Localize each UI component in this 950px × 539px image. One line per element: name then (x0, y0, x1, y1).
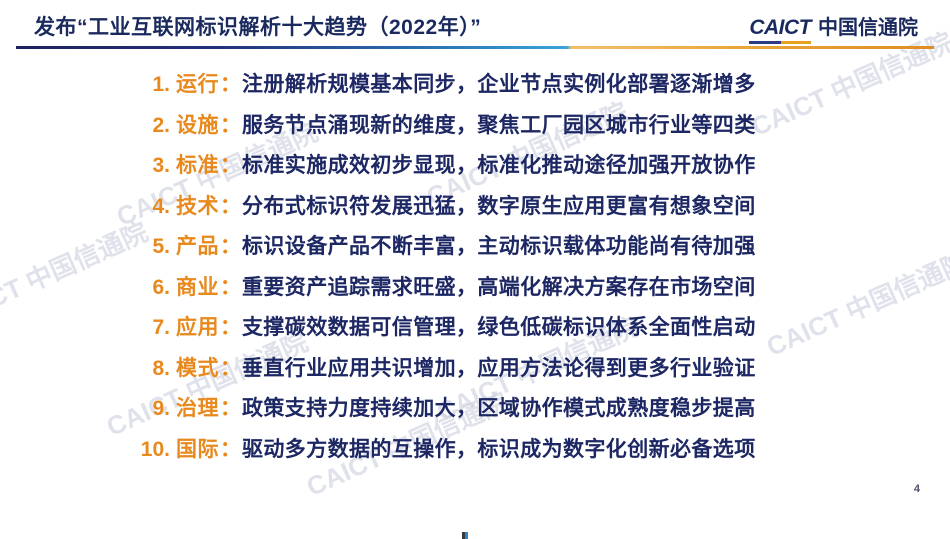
list-item-category: 治理 (176, 392, 219, 422)
list-item-text: 重要资产追踪需求旺盛，高端化解决方案存在市场空间 (242, 271, 756, 301)
list-item-text: 支撑碳效数据可信管理，绿色低碳标识体系全面性启动 (242, 311, 756, 341)
list-item-number: 9. (140, 397, 170, 421)
list-item-number: 1. (140, 73, 170, 97)
page-number: 4 (914, 483, 920, 495)
list-item: 9.治理：政策支持力度持续加大，区域协作模式成熟度稳步提高 (0, 392, 950, 433)
list-item: 4.技术：分布式标识符发展迅猛，数字原生应用更富有想象空间 (0, 190, 950, 231)
list-item-category: 产品 (176, 230, 219, 260)
header-divider-rule (16, 46, 934, 49)
list-item-colon: ： (220, 311, 241, 341)
list-item-category: 国际 (176, 433, 219, 463)
list-item-text: 分布式标识符发展迅猛，数字原生应用更富有想象空间 (242, 190, 756, 220)
list-item-text: 驱动多方数据的互操作，标识成为数字化创新必备选项 (242, 433, 756, 463)
trend-list: 1.运行：注册解析规模基本同步，企业节点实例化部署逐渐增多2.设施：服务节点涌现… (0, 68, 950, 473)
caict-wordmark-text: CAICT (749, 16, 811, 39)
list-item-number: 6. (140, 276, 170, 300)
slide-canvas: CAICT 中国信通院 CAICT 中国信通院 CAICT 中国信通院 CAIC… (0, 0, 950, 539)
page-title: 发布“工业互联网标识解析十大趋势（2022年）” (34, 11, 481, 41)
list-item-number: 7. (140, 316, 170, 340)
list-item: 6.商业：重要资产追踪需求旺盛，高端化解决方案存在市场空间 (0, 271, 950, 312)
list-item-number: 5. (140, 235, 170, 259)
list-item-number: 3. (140, 154, 170, 178)
list-item-category: 运行 (176, 68, 219, 98)
caict-underline-accent (749, 41, 811, 44)
list-item-colon: ： (220, 392, 241, 422)
list-item-category: 设施 (176, 109, 219, 139)
list-item-category: 模式 (176, 352, 219, 382)
list-item-text: 标识设备产品不断丰富，主动标识载体功能尚有待加强 (242, 230, 756, 260)
list-item-text: 注册解析规模基本同步，企业节点实例化部署逐渐增多 (242, 68, 756, 98)
list-item-number: 10. (140, 438, 170, 462)
list-item-text: 服务节点涌现新的维度，聚焦工厂园区城市行业等四类 (242, 109, 756, 139)
caict-logo: CAICT 中国信通院 (749, 11, 918, 44)
list-item-colon: ： (220, 271, 241, 301)
list-item-number: 8. (140, 357, 170, 381)
caict-wordmark: CAICT (749, 16, 811, 44)
list-item: 3.标准：标准实施成效初步显现，标准化推动途径加强开放协作 (0, 149, 950, 190)
list-item-colon: ： (220, 149, 241, 179)
bottom-edge-marker (462, 532, 468, 539)
list-item: 8.模式：垂直行业应用共识增加，应用方法论得到更多行业验证 (0, 352, 950, 393)
list-item: 10.国际：驱动多方数据的互操作，标识成为数字化创新必备选项 (0, 433, 950, 474)
slide-header: 发布“工业互联网标识解析十大趋势（2022年）” CAICT 中国信通院 (0, 0, 950, 52)
list-item-category: 应用 (176, 311, 219, 341)
list-item-text: 政策支持力度持续加大，区域协作模式成熟度稳步提高 (242, 392, 756, 422)
list-item-number: 2. (140, 114, 170, 138)
list-item-colon: ： (220, 68, 241, 98)
list-item-text: 垂直行业应用共识增加，应用方法论得到更多行业验证 (242, 352, 756, 382)
list-item-colon: ： (220, 190, 241, 220)
list-item-category: 技术 (176, 190, 219, 220)
list-item: 5.产品：标识设备产品不断丰富，主动标识载体功能尚有待加强 (0, 230, 950, 271)
list-item-colon: ： (220, 352, 241, 382)
list-item-colon: ： (220, 433, 241, 463)
list-item: 1.运行：注册解析规模基本同步，企业节点实例化部署逐渐增多 (0, 68, 950, 109)
list-item: 2.设施：服务节点涌现新的维度，聚焦工厂园区城市行业等四类 (0, 109, 950, 150)
list-item-category: 商业 (176, 271, 219, 301)
caict-chinese-name: 中国信通院 (818, 11, 918, 40)
list-item-colon: ： (220, 109, 241, 139)
list-item-colon: ： (220, 230, 241, 260)
list-item: 7.应用：支撑碳效数据可信管理，绿色低碳标识体系全面性启动 (0, 311, 950, 352)
list-item-text: 标准实施成效初步显现，标准化推动途径加强开放协作 (242, 149, 756, 179)
list-item-category: 标准 (176, 149, 219, 179)
list-item-number: 4. (140, 195, 170, 219)
